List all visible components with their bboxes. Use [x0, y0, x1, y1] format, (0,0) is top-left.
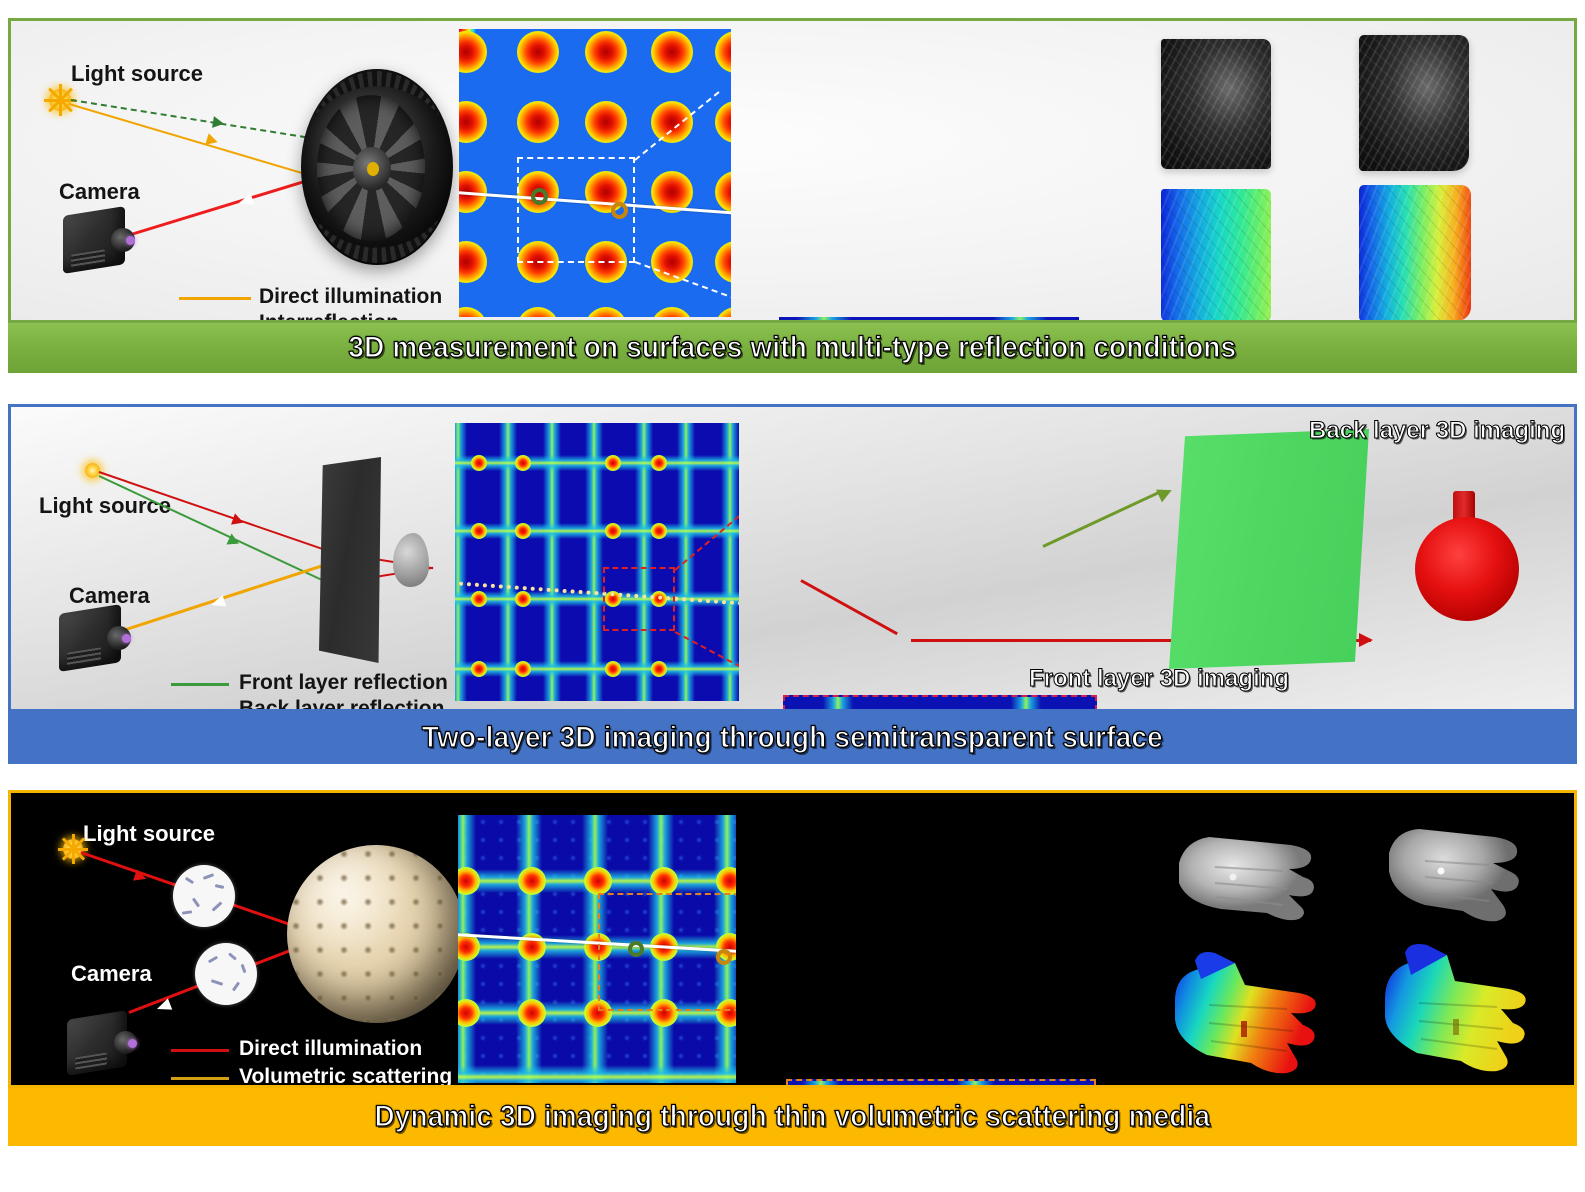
correlation-map-reflection [459, 29, 731, 317]
result-front-layer-plane [1169, 429, 1369, 669]
light-source-label: Light source [71, 61, 203, 87]
back-layer-connector-arrowhead [1359, 633, 1373, 647]
banner-reflection-text: 3D measurement on surfaces with multi-ty… [349, 331, 1237, 365]
camera-view-ray [123, 560, 335, 631]
panel-reflection: Light source Camera [8, 18, 1577, 373]
camera-label: Camera [59, 179, 140, 205]
light-source-icon [49, 89, 71, 111]
semitransparent-plate [319, 457, 381, 663]
roi-box [603, 567, 675, 631]
light-source-label: Light source [83, 821, 215, 847]
figure-root: Light source Camera [0, 0, 1585, 1192]
roi-leader-top [674, 515, 739, 571]
marker-candidate-gold [611, 202, 628, 219]
front-layer-result-label: Front layer 3D imaging [1029, 665, 1289, 693]
legend-line-direct [179, 297, 251, 300]
direct-incident-arrowhead [133, 869, 148, 884]
result-hand-depth-2 [1377, 943, 1533, 1079]
legend-label-front: Front layer reflection [239, 671, 448, 695]
back-layer-connector-a [800, 579, 898, 635]
roi-leader-bottom [675, 631, 739, 672]
panel-scattering: Light source Camera [8, 790, 1577, 1146]
banner-semitransparent: Two-layer 3D imaging through semitranspa… [8, 712, 1577, 764]
correlation-map-scattering [458, 815, 736, 1083]
correlation-map-semitransparent [455, 423, 739, 701]
banner-scattering: Dynamic 3D imaging through thin volumetr… [8, 1088, 1577, 1146]
result-plastic-sheet-view-1 [1161, 39, 1271, 169]
roi-leader-top [634, 91, 719, 161]
light-source-icon [63, 839, 83, 859]
direct-illumination-ray [69, 103, 328, 182]
legend-line-front [171, 683, 229, 686]
result-back-layer-sphere [1415, 517, 1519, 621]
camera-ray-arrowhead [237, 193, 254, 209]
camera-icon [59, 609, 121, 667]
result-hand-depth-1 [1169, 949, 1321, 1081]
camera-label: Camera [71, 961, 152, 987]
result-plastic-sheet-depth-1 [1161, 189, 1271, 321]
scattering-media-bubble-2 [195, 943, 257, 1005]
roi-leader-bottom [635, 261, 731, 300]
banner-semitransparent-text: Two-layer 3D imaging through semitranspa… [422, 721, 1163, 755]
interreflection-arrowhead [212, 116, 225, 130]
correlation-zoom-semitransparent [783, 695, 1097, 712]
legend-label-interreflection: Interreflection [259, 311, 399, 323]
legend-label-direct: Direct illumination [259, 285, 442, 309]
camera-icon [67, 1015, 127, 1071]
car-wheel-object [301, 69, 453, 265]
legend-label-direct: Direct illumination [239, 1037, 422, 1061]
correlation-zoom-scattering: Depth constraint [786, 1079, 1096, 1088]
result-plastic-sheet-depth-2 [1359, 185, 1471, 321]
back-layer-result-label: Back layer 3D imaging [1309, 417, 1565, 445]
panel-scattering-stage: Light source Camera [8, 790, 1577, 1088]
result-plastic-sheet-view-2 [1359, 35, 1469, 171]
camera-icon [63, 211, 125, 269]
legend-line-direct [171, 1049, 229, 1052]
leaf-object [393, 533, 429, 587]
legend-line-scattering [171, 1077, 229, 1080]
interreflection-ray [71, 99, 316, 140]
dimpled-sphere-object [287, 845, 465, 1023]
result-hand-photo-1 [1171, 817, 1321, 927]
banner-reflection: 3D measurement on surfaces with multi-ty… [8, 323, 1577, 373]
panel-semitransparent: Light source Camera Front layer [8, 404, 1577, 764]
panel-semitransparent-stage: Light source Camera Front layer [8, 404, 1577, 712]
legend-label-back: Back layer reflection [239, 697, 444, 712]
banner-scattering-text: Dynamic 3D imaging through thin volumetr… [375, 1100, 1211, 1134]
result-hand-photo-2 [1379, 813, 1529, 931]
front-layer-connector [1042, 489, 1163, 548]
marker-candidate-green [531, 188, 548, 205]
epipolar-line [455, 581, 739, 606]
light-source-label: Light source [39, 493, 171, 519]
panel-reflection-stage: Light source Camera [8, 18, 1577, 323]
front-layer-connector-arrowhead [1156, 484, 1175, 503]
legend-label-scattering: Volumetric scattering [239, 1065, 452, 1088]
back-layer-arrowhead [231, 513, 245, 528]
scattering-media-bubble-1 [173, 865, 235, 927]
roi-box [598, 893, 736, 1011]
